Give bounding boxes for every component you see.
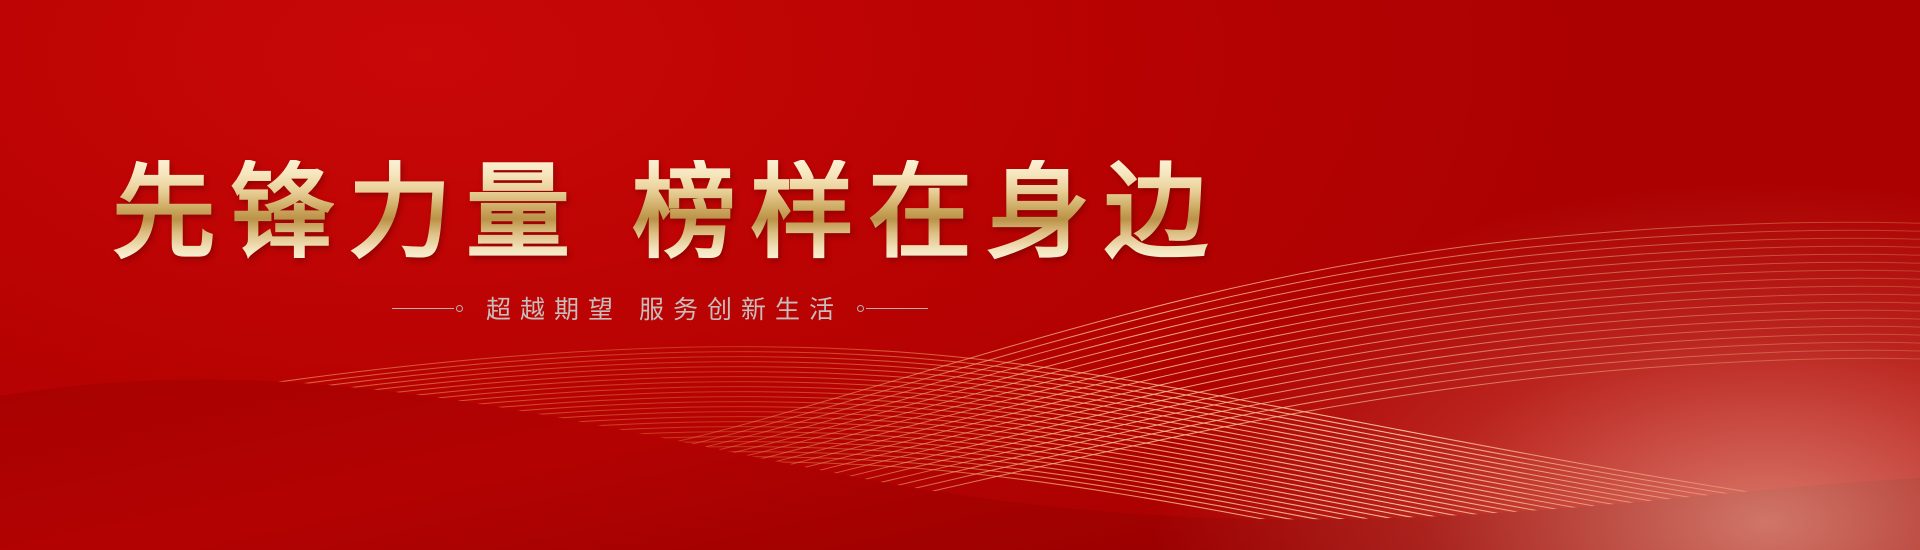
- circle-endpoint-icon: [857, 305, 864, 312]
- page-subtitle: 超越期望 服务创新生活: [477, 290, 843, 326]
- subtitle-row: 超越期望 服务创新生活: [0, 290, 1320, 326]
- left-rule-decoration: [392, 305, 463, 312]
- title-char: 身: [986, 160, 1090, 264]
- promotional-banner: 先 锋 力 量 榜 样 在 身 边 超越期望 服务创新生活: [0, 0, 1920, 550]
- title-char: 力: [348, 160, 452, 264]
- banner-text-block: 先 锋 力 量 榜 样 在 身 边 超越期望 服务创新生活: [0, 160, 1320, 326]
- rule-line: [392, 308, 454, 309]
- title-char: 在: [868, 160, 972, 264]
- title-char: 锋: [230, 160, 334, 264]
- title-char: 边: [1104, 160, 1208, 264]
- page-title: 先 锋 力 量 榜 样 在 身 边: [0, 160, 1320, 264]
- title-char: 样: [750, 160, 854, 264]
- title-char: 量: [466, 160, 570, 264]
- circle-endpoint-icon: [456, 305, 463, 312]
- title-char: 先: [112, 160, 216, 264]
- title-char: 榜: [632, 160, 736, 264]
- right-rule-decoration: [857, 305, 928, 312]
- rule-line: [866, 308, 928, 309]
